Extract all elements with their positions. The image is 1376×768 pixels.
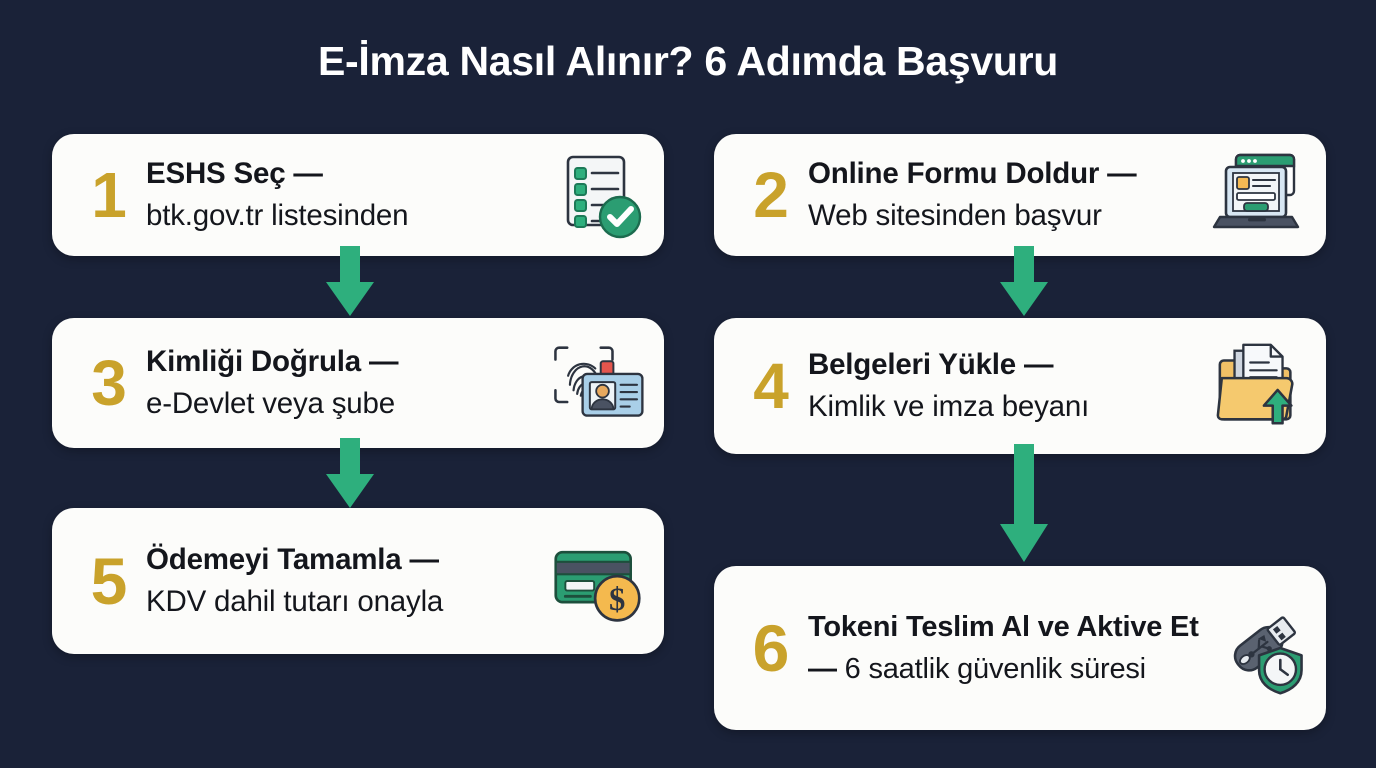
step-number-1: 1: [78, 163, 140, 227]
arrow-step4-to-step6: [996, 444, 1052, 564]
step-dash-5: —: [402, 543, 439, 576]
step-text-5: Ödemeyi Tamamla — KDV dahil tutarı onayl…: [140, 539, 546, 623]
arrow-step3-to-step5: [322, 438, 378, 510]
step-number-5: 5: [78, 548, 140, 614]
page-title: E-İmza Nasıl Alınır? 6 Adımda Başvuru: [0, 38, 1376, 85]
step-subtext-5: KDV dahil tutarı onayla: [146, 585, 443, 618]
step-card-5[interactable]: 5 Ödemeyi Tamamla — KDV dahil tutarı ona…: [52, 508, 664, 654]
step-subtext-3: e-Devlet veya şube: [146, 387, 395, 420]
step-card-2[interactable]: 2 Online Formu Doldur — Web sitesinden b…: [714, 134, 1326, 256]
step-card-4[interactable]: 4 Belgeleri Yükle — Kimlik ve imza beyan…: [714, 318, 1326, 454]
step-text-6: Tokeni Teslim Al ve Aktive Et — 6 saatli…: [802, 606, 1208, 691]
step-heading-6: Tokeni Teslim Al ve Aktive Et: [808, 611, 1199, 643]
step-dash-2: —: [1099, 157, 1136, 190]
step-number-3: 3: [78, 351, 140, 415]
step-heading-5: Ödemeyi Tamamla: [146, 543, 402, 576]
step-dash-3: —: [361, 345, 398, 378]
step-subtext-2: Web sitesinden başvur: [808, 199, 1102, 232]
folder-upload-icon: [1212, 338, 1308, 434]
step-text-2: Online Formu Doldur — Web sitesinden baş…: [802, 153, 1208, 237]
credit-card-coin-icon: $: [550, 533, 646, 629]
step-card-3[interactable]: 3 Kimliği Doğrula — e-Devlet veya şube: [52, 318, 664, 448]
step-subtext-6: 6 saatlik güvenlik süresi: [845, 653, 1146, 685]
step-card-1[interactable]: 1 ESHS Seç — btk.gov.tr listesinden: [52, 134, 664, 256]
step-heading-1: ESHS Seç: [146, 157, 285, 190]
arrow-step1-to-step3: [322, 246, 378, 318]
step-card-6[interactable]: 6 Tokeni Teslim Al ve Aktive Et — 6 saat…: [714, 566, 1326, 730]
step-subtext-1: btk.gov.tr listesinden: [146, 199, 408, 232]
step-text-4: Belgeleri Yükle — Kimlik ve imza beyanı: [802, 344, 1208, 428]
fingerprint-id-card-icon: [550, 335, 646, 431]
step-heading-2: Online Formu Doldur: [808, 157, 1099, 190]
step-number-6: 6: [740, 615, 802, 681]
checklist-icon: [550, 147, 646, 243]
step-dash-4: —: [1016, 348, 1053, 381]
step-heading-4: Belgeleri Yükle: [808, 348, 1016, 381]
step-text-3: Kimliği Doğrula — e-Devlet veya şube: [140, 341, 546, 425]
laptop-web-form-icon: [1212, 147, 1308, 243]
usb-token-shield-clock-icon: [1212, 600, 1308, 696]
step-number-4: 4: [740, 354, 802, 418]
step-dash-1: —: [285, 157, 322, 190]
step-subtext-4: Kimlik ve imza beyanı: [808, 390, 1089, 423]
svg-text:$: $: [609, 582, 625, 618]
arrow-step2-to-step4: [996, 246, 1052, 318]
step-number-2: 2: [740, 163, 802, 227]
step-dash-6: —: [808, 653, 845, 685]
step-heading-3: Kimliği Doğrula: [146, 345, 361, 378]
step-text-1: ESHS Seç — btk.gov.tr listesinden: [140, 153, 546, 237]
